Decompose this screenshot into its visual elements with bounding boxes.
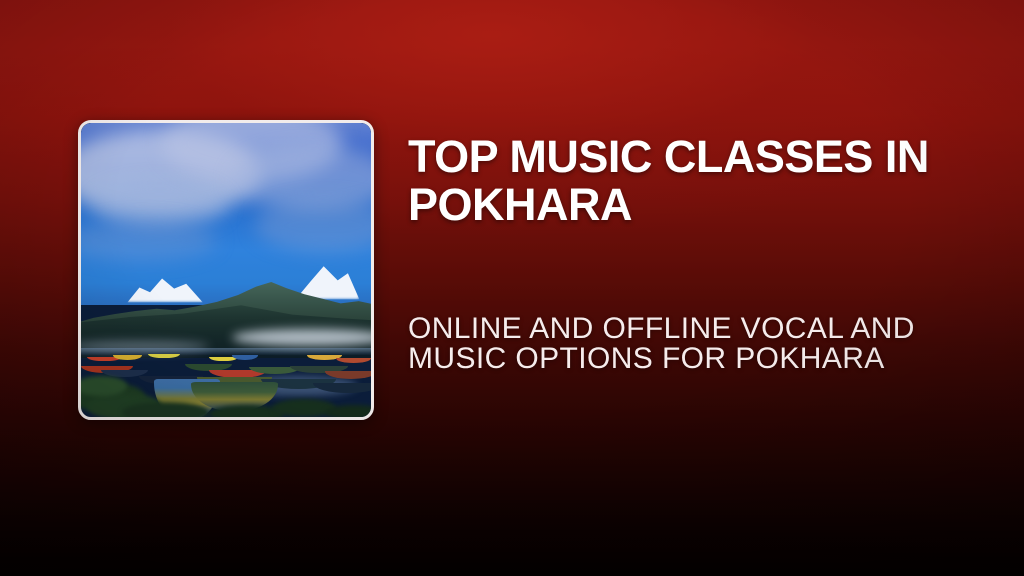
pokhara-lake-photo <box>81 123 371 417</box>
water-vegetation <box>325 405 371 417</box>
photo-frame <box>78 120 374 420</box>
page-title: Top Music Classes in Pokhara <box>408 133 980 229</box>
text-column: Top Music Classes in Pokhara Online and … <box>408 0 988 576</box>
page-subtitle: Online and offline vocal and music optio… <box>408 314 938 374</box>
poster-canvas: Top Music Classes in Pokhara Online and … <box>0 0 1024 576</box>
far-shoreline <box>81 348 371 355</box>
water-vegetation <box>122 402 209 417</box>
